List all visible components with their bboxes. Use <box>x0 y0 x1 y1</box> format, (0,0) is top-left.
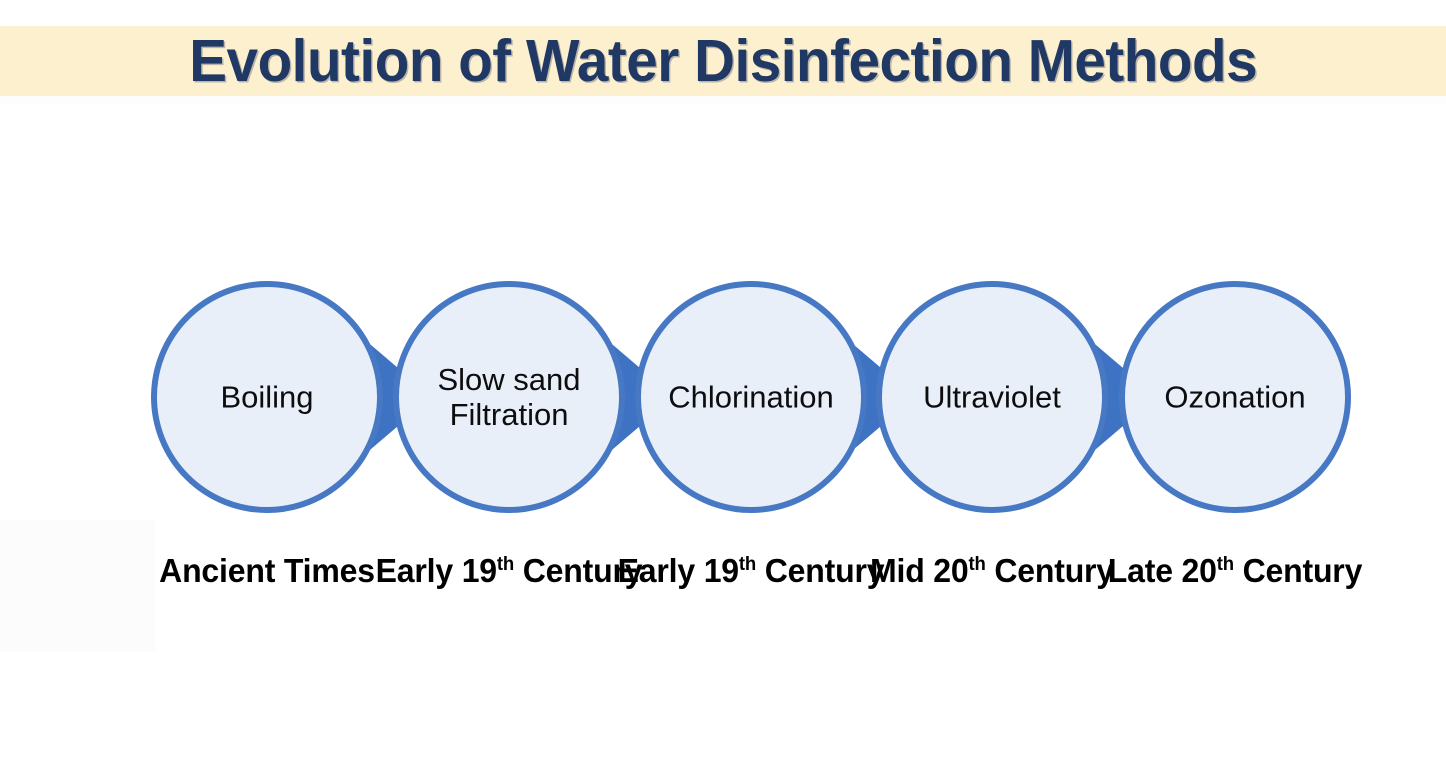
process-node-circle-3[interactable] <box>638 284 864 510</box>
caption-prefix: Late 20 <box>1108 552 1217 589</box>
timeline-caption-5: Late 20th Century <box>1099 551 1371 591</box>
caption-ordinal-suffix: th <box>739 554 756 575</box>
timeline-caption-3: Early 19th Century <box>615 551 887 591</box>
caption-ordinal-suffix: th <box>497 554 514 575</box>
timeline-caption-1: Ancient Times <box>131 551 403 591</box>
caption-suffix: Century <box>1234 552 1362 589</box>
process-node-circle-5[interactable] <box>1122 284 1348 510</box>
caption-text: Ancient Times <box>159 552 375 589</box>
process-node-circle-4[interactable] <box>879 284 1105 510</box>
caption-ordinal-suffix: th <box>1217 554 1234 575</box>
timeline-caption-4: Mid 20th Century <box>856 551 1128 591</box>
caption-prefix: Early 19 <box>618 552 739 589</box>
circle-layer <box>154 284 1348 510</box>
process-node-circle-2[interactable] <box>396 284 622 510</box>
timeline-caption-2: Early 19th Century <box>373 551 645 591</box>
process-flow-diagram: BoilingSlow sand FiltrationChlorinationU… <box>0 0 1446 761</box>
caption-ordinal-suffix: th <box>969 554 986 575</box>
caption-prefix: Early 19 <box>376 552 497 589</box>
flow-canvas <box>0 0 1446 761</box>
caption-prefix: Mid 20 <box>870 552 968 589</box>
caption-suffix: Century <box>986 552 1114 589</box>
process-node-circle-1[interactable] <box>154 284 380 510</box>
